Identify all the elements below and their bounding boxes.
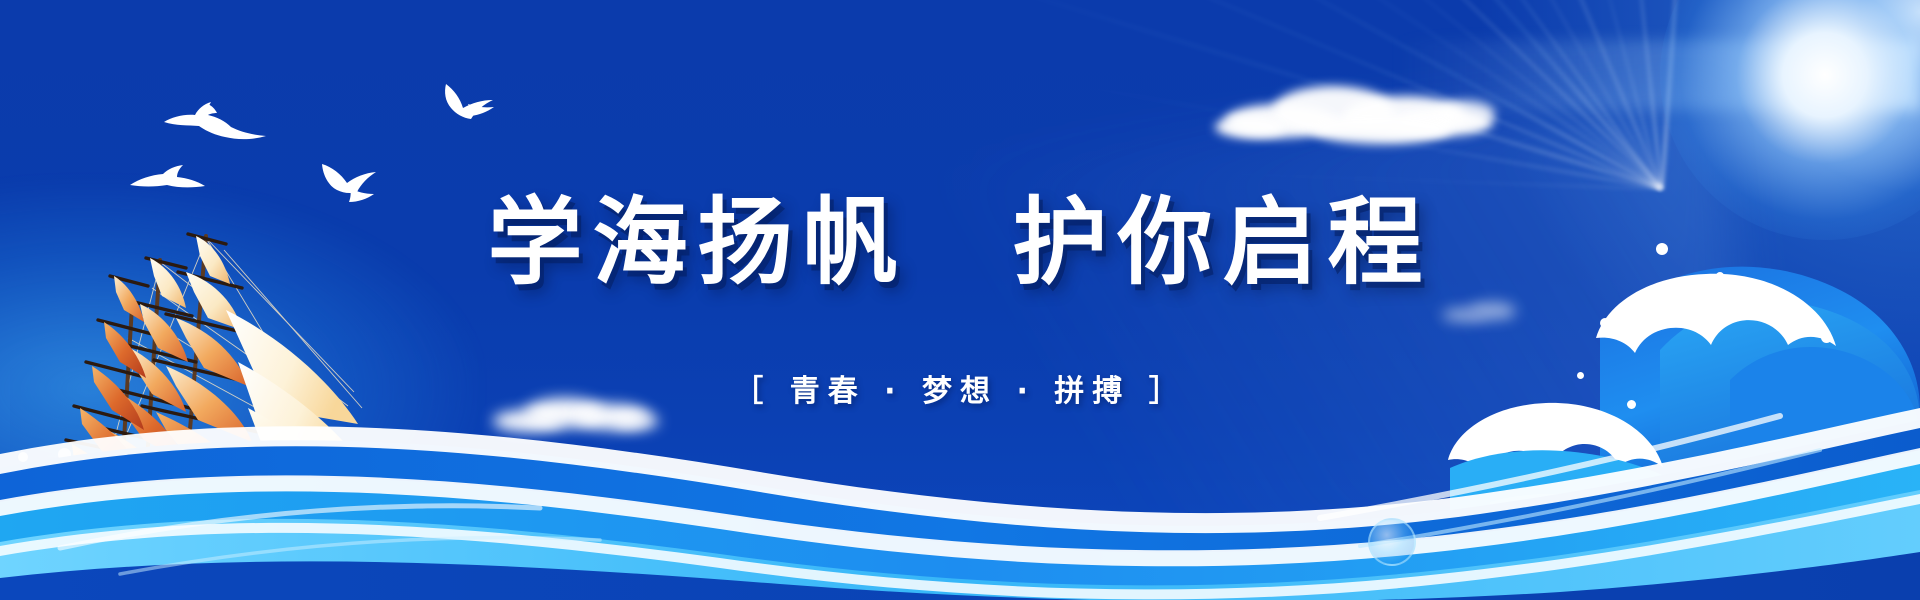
- bird-icon: [160, 100, 270, 148]
- bubble-icon: [1600, 318, 1610, 328]
- bird-icon: [128, 163, 226, 199]
- page-subtitle: ［ 青春 · 梦想 · 拼搏 ］: [0, 366, 1920, 410]
- page-title: 学海扬帆 护你启程: [0, 196, 1920, 291]
- wave-bubble-icon: [1368, 518, 1416, 566]
- bubble-icon: [1778, 292, 1787, 301]
- bird-icon: [440, 78, 522, 124]
- bubble-icon: [1821, 332, 1832, 343]
- hero-banner: 学海扬帆 护你启程 ［ 青春 · 梦想 · 拼搏 ］: [0, 0, 1920, 600]
